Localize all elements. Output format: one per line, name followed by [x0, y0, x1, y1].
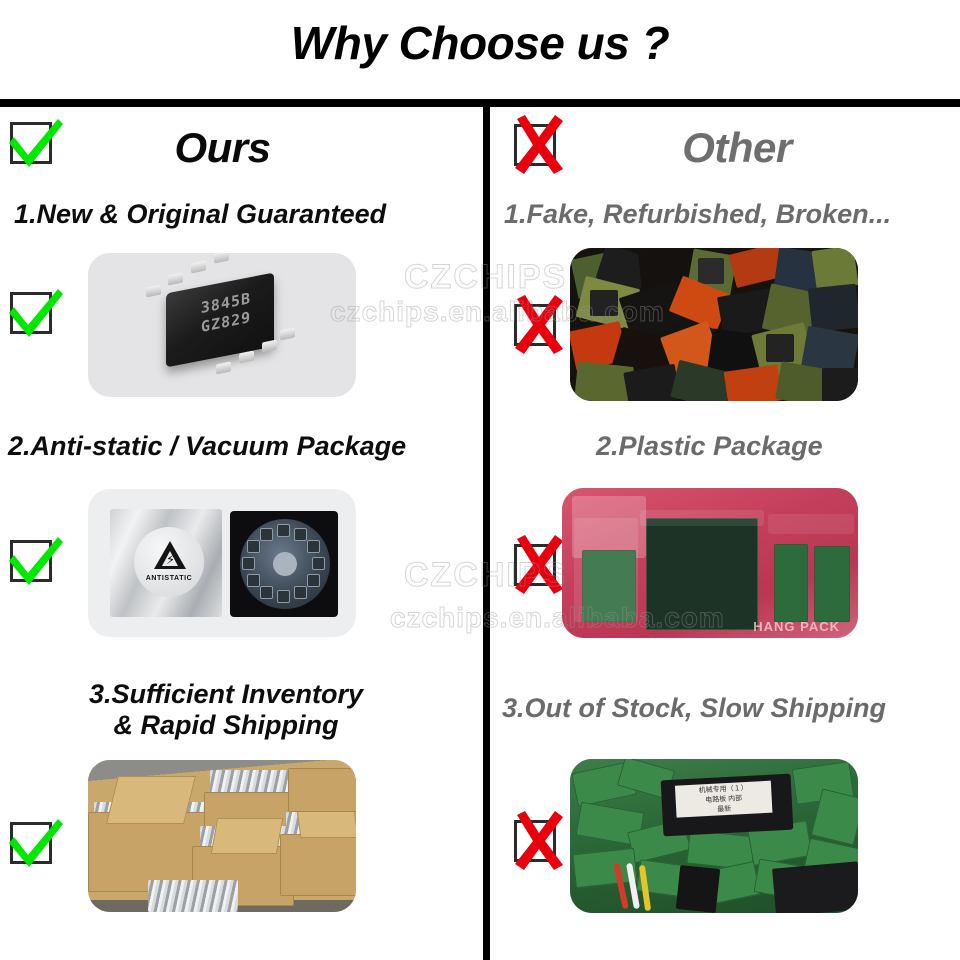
- feature-label-ours-3: 3.Sufficient Inventory & Rapid Shipping: [56, 679, 396, 741]
- column-other: Other 1.Fake, Refurbished, Broken...: [490, 107, 960, 960]
- cross-mark-icon: [514, 544, 556, 586]
- photo-scrap-salvaged-chips: [570, 248, 858, 401]
- antistatic-label: ANTISTATIC: [134, 575, 204, 582]
- module-label: 机械专用（１） 电路板 内部 最新: [675, 781, 773, 818]
- high-voltage-icon: ⚡: [166, 553, 175, 566]
- feature-label-other-2: 2.Plastic Package: [596, 431, 823, 462]
- cross-mark-icon: [514, 820, 556, 862]
- pack-watermark-text: HANG PACK: [753, 619, 840, 634]
- check-mark-icon: [10, 822, 52, 864]
- header-divider-rule: [0, 99, 960, 107]
- cross-mark-icon: [514, 124, 556, 166]
- black-module-box: 机械专用（１） 电路板 内部 最新: [661, 774, 794, 837]
- page-title: Why Choose us ?: [0, 0, 960, 100]
- column-divider-rule: [483, 107, 490, 960]
- check-mark-icon: [10, 292, 52, 334]
- photo-pink-plastic-bagged-pcbs: HANG PACK: [562, 488, 858, 638]
- column-ours: Ours 1.New & Original Guaranteed: [0, 107, 483, 960]
- photo-green-pcb-scrap-pile: 机械专用（１） 电路板 内部 最新: [570, 759, 858, 913]
- column-header-ours: Ours: [0, 107, 483, 189]
- feature-label-other-3: 3.Out of Stock, Slow Shipping: [502, 693, 886, 724]
- check-mark-icon: [10, 540, 52, 582]
- cross-mark-icon: [514, 304, 556, 346]
- photo-antistatic-bag-and-reel: ⚡ ANTISTATIC: [88, 489, 356, 637]
- feature-label-ours-2: 2.Anti-static / Vacuum Package: [8, 431, 406, 462]
- feature-label-other-1: 1.Fake, Refurbished, Broken...: [504, 199, 891, 230]
- comparison-infographic: Why Choose us ? Ours 1.New & Original Gu…: [0, 0, 960, 960]
- check-mark-icon: [10, 122, 52, 164]
- feature-label-ours-1: 1.New & Original Guaranteed: [14, 199, 386, 230]
- photo-soic-chip: 3845B GZ829: [88, 253, 356, 397]
- photo-cartons-of-packed-parts: [88, 760, 356, 912]
- column-heading-label: Ours: [0, 124, 483, 172]
